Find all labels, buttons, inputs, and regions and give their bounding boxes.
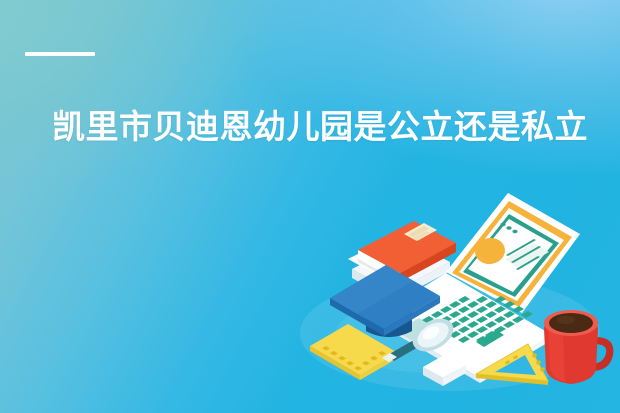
window-dot-3 — [512, 230, 517, 233]
accent-rule-divider — [25, 52, 95, 56]
page-title: 凯里市贝迪恩幼儿园是公立还是私立 — [52, 104, 592, 150]
study-desk-illustration — [300, 185, 620, 413]
window-dot-2 — [506, 226, 511, 229]
coffee-mug — [544, 310, 613, 384]
window-dot-1 — [500, 223, 505, 226]
promo-banner: 凯里市贝迪恩幼儿园是公立还是私立 — [0, 0, 620, 413]
